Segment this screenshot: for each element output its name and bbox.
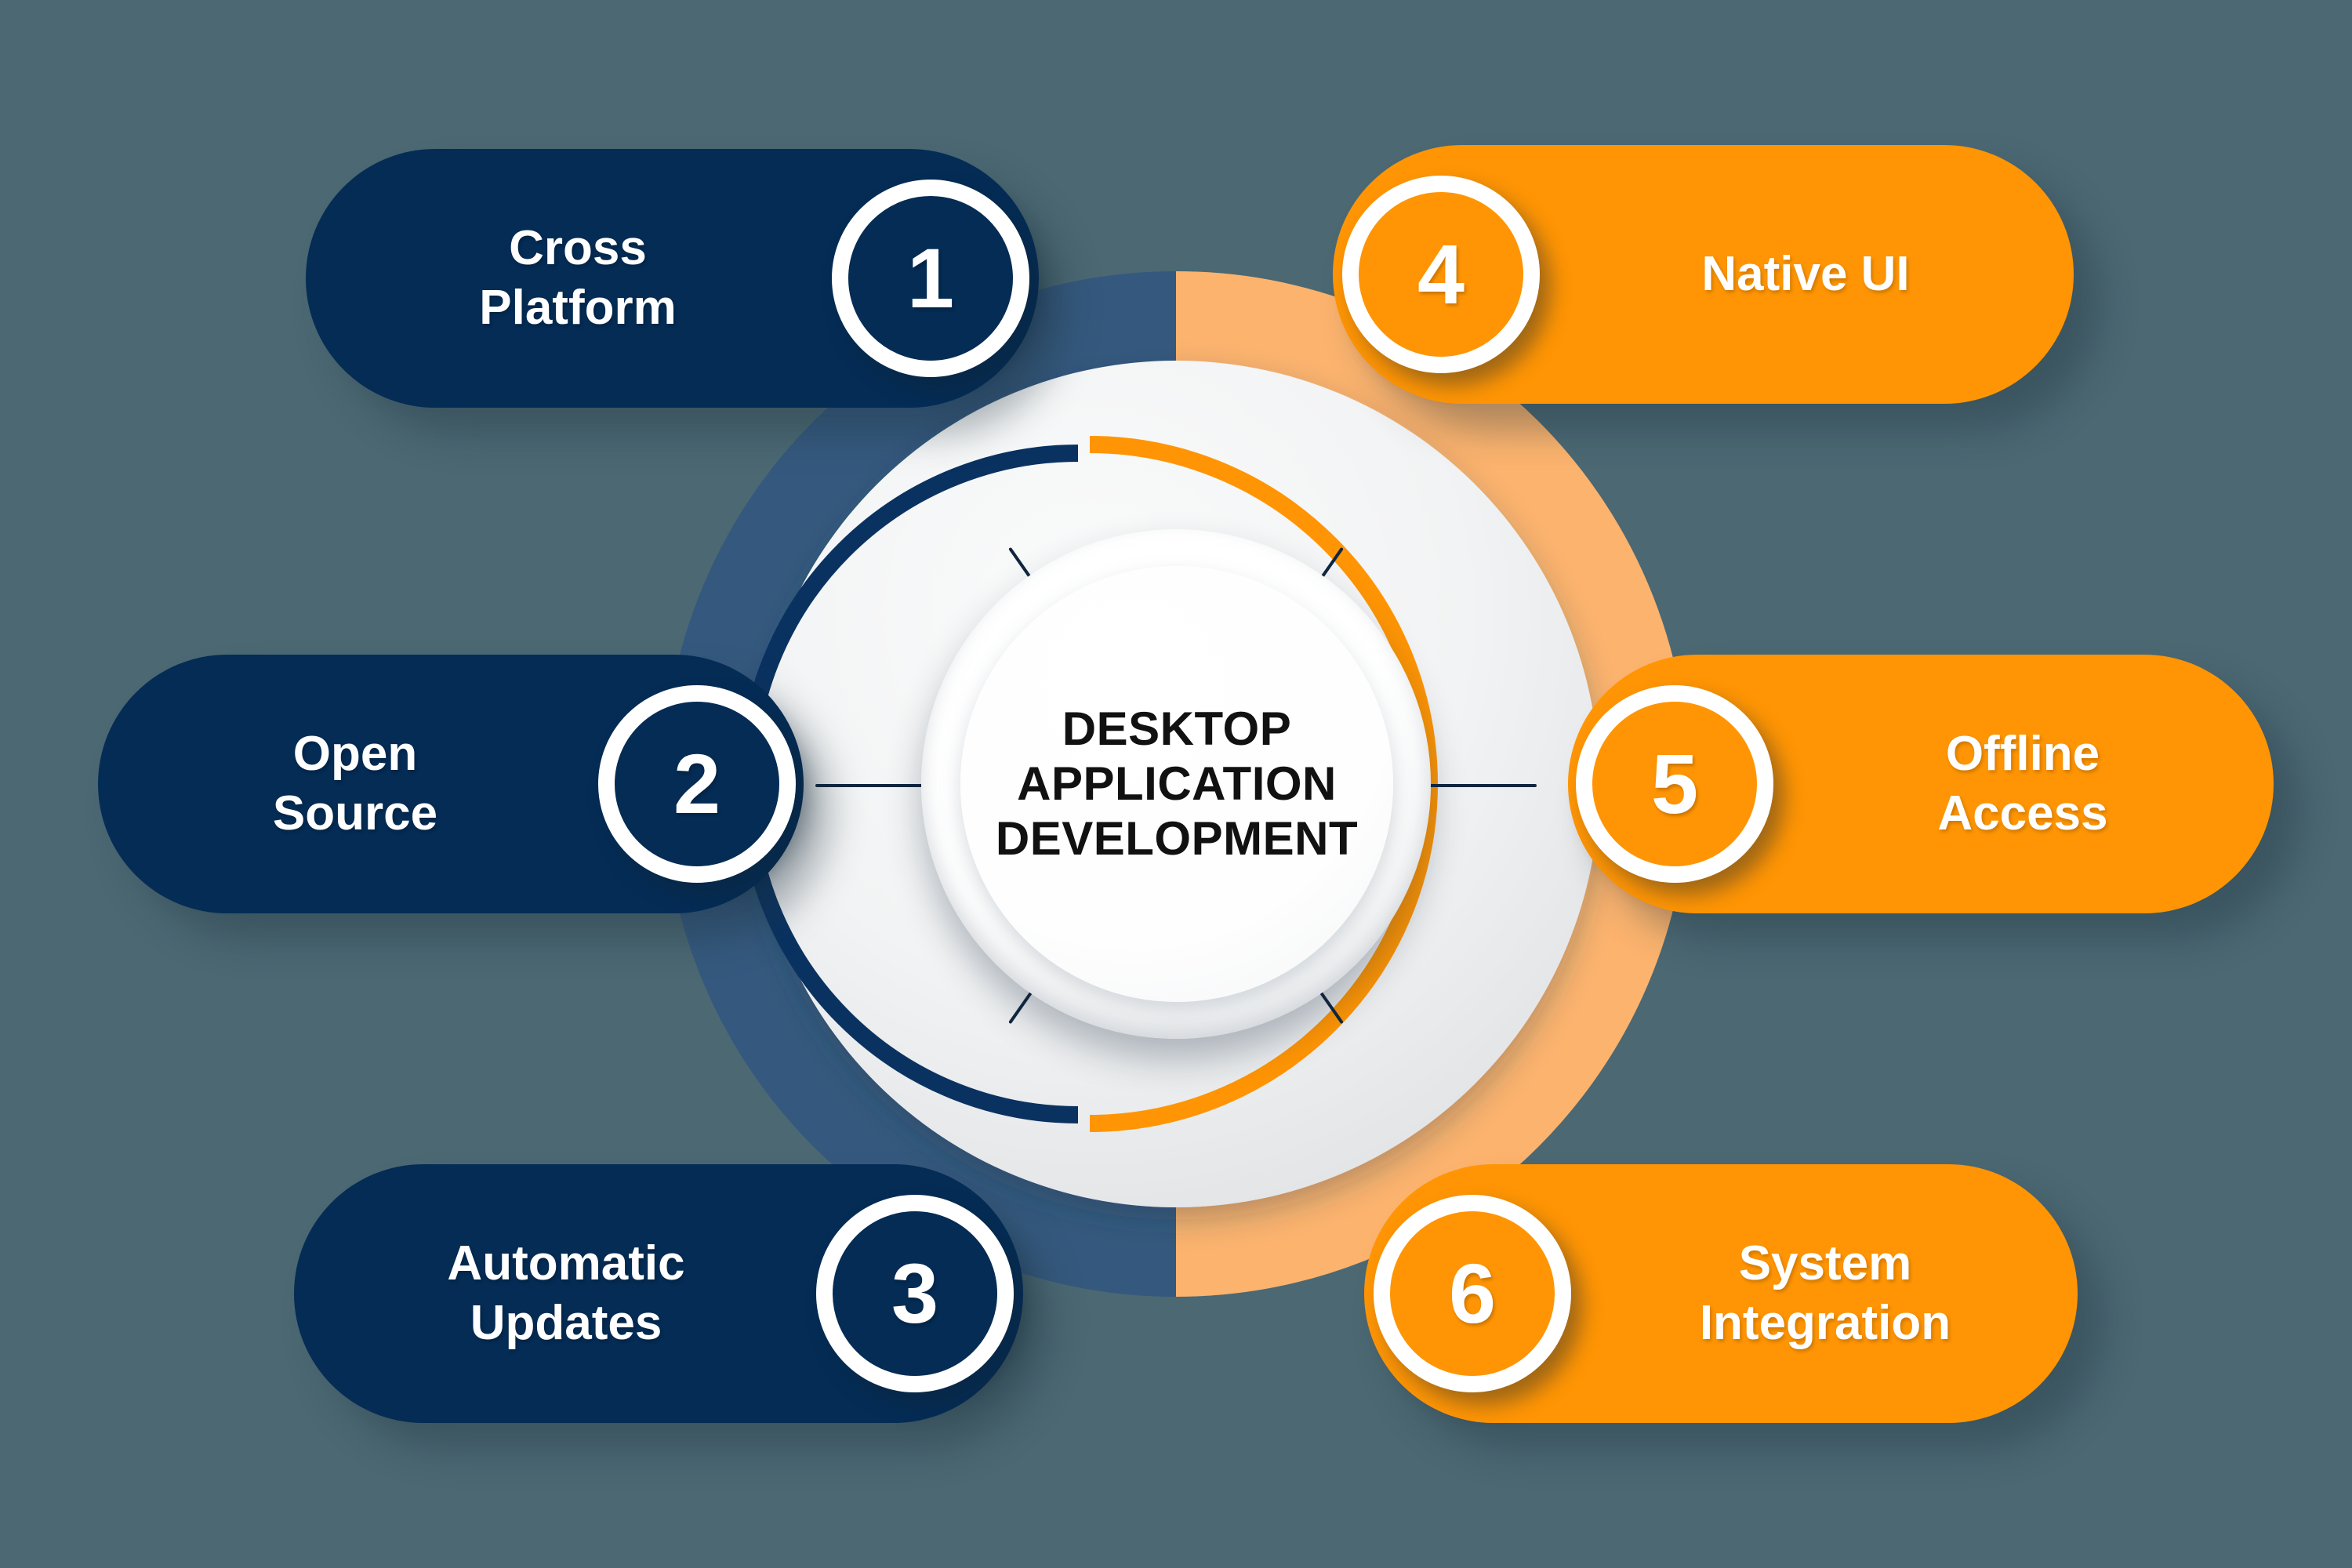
infographic-canvas: Cross Platform 1 Open Source 2 Automatic… (0, 0, 2352, 1568)
feature-label-1: Cross Platform (323, 219, 833, 337)
feature-number-2: 2 (673, 742, 720, 826)
feature-pill-6[interactable]: 6 System Integration (1364, 1164, 2078, 1423)
feature-number-badge-4[interactable]: 4 (1342, 176, 1540, 373)
feature-pill-1[interactable]: Cross Platform 1 (306, 149, 1039, 408)
feature-label-3: Automatic Updates (311, 1234, 821, 1352)
feature-label-5: Offline Access (1788, 724, 2258, 843)
feature-number-4: 4 (1417, 232, 1465, 317)
center-title: DESKTOP APPLICATION DEVELOPMENT (996, 702, 1358, 867)
feature-label-4: Native UI (1555, 245, 2056, 304)
feature-number-badge-6[interactable]: 6 (1374, 1195, 1571, 1392)
feature-number-badge-1[interactable]: 1 (832, 180, 1029, 377)
feature-number-1: 1 (907, 236, 954, 321)
feature-pill-5[interactable]: 5 Offline Access (1568, 655, 2274, 913)
feature-pill-2[interactable]: Open Source 2 (98, 655, 804, 913)
center-title-line-2: APPLICATION (996, 757, 1358, 811)
feature-label-2: Open Source (112, 724, 598, 843)
feature-pill-3[interactable]: Automatic Updates 3 (294, 1164, 1023, 1423)
feature-number-badge-2[interactable]: 2 (598, 685, 796, 883)
feature-label-6: System Integration (1586, 1234, 2064, 1352)
center-title-line-3: DEVELOPMENT (996, 811, 1358, 866)
center-title-line-1: DESKTOP (996, 702, 1358, 757)
feature-number-badge-3[interactable]: 3 (816, 1195, 1014, 1392)
feature-pill-4[interactable]: 4 Native UI (1333, 145, 2074, 404)
feature-number-3: 3 (891, 1251, 938, 1336)
feature-number-5: 5 (1651, 742, 1698, 826)
feature-number-6: 6 (1449, 1251, 1496, 1336)
center-circle: DESKTOP APPLICATION DEVELOPMENT (960, 566, 1393, 1002)
feature-number-badge-5[interactable]: 5 (1576, 685, 1773, 883)
